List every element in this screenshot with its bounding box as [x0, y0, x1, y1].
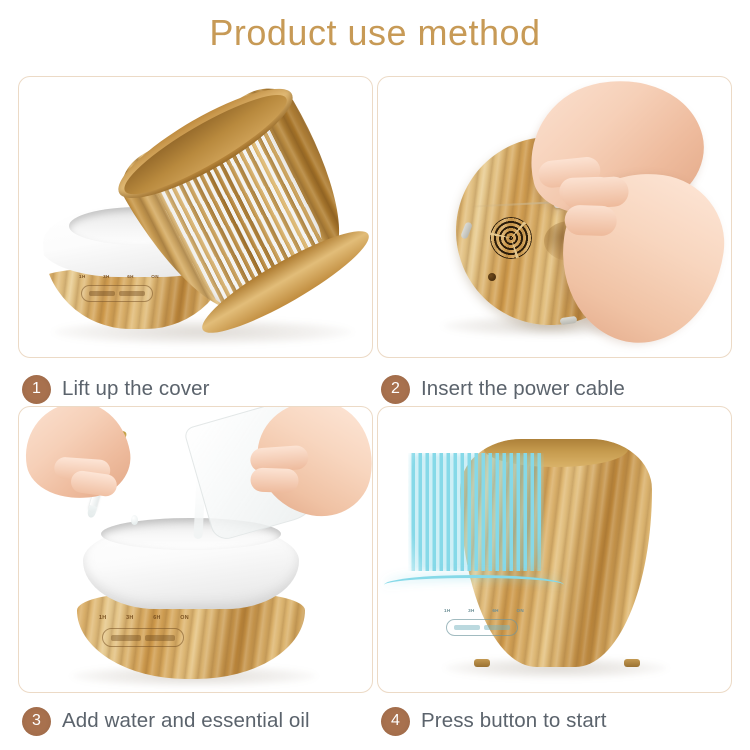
step-3-image: 1H 3H 6H ON: [18, 406, 373, 693]
timer-marks: 1H 3H 6H ON: [444, 608, 524, 613]
control-panel: [446, 619, 518, 636]
step-card-4: 1H 3H 6H ON 4 Press button to start: [377, 406, 732, 739]
button-mist: [454, 625, 480, 630]
step-label-2: Insert the power cable: [421, 377, 625, 401]
button-light: [145, 635, 175, 641]
oil-droplet: [131, 515, 138, 525]
timer-marks: 1H 3H 6H ON: [99, 615, 189, 621]
control-panel: [81, 285, 153, 302]
step-4-image: 1H 3H 6H ON: [377, 406, 732, 693]
steps-grid: 1H 3H 6H ON: [0, 76, 750, 750]
thumb: [70, 469, 119, 497]
step-4-caption: 4 Press button to start: [381, 703, 607, 739]
timer-mark: 1H: [79, 274, 86, 279]
step-badge-3: 3: [22, 707, 51, 736]
step-card-1: 1H 3H 6H ON: [18, 76, 373, 409]
product-infographic: Product use method 1H 3H 6H ON: [0, 0, 750, 750]
step-badge-1: 1: [22, 375, 51, 404]
screw: [488, 273, 496, 281]
timer-marks: 1H 3H 6H ON: [79, 274, 159, 279]
button-light: [119, 291, 145, 296]
step-label-1: Lift up the cover: [62, 377, 210, 401]
button-mist: [111, 635, 141, 641]
step-1-image: 1H 3H 6H ON: [18, 76, 373, 358]
step-card-3: 1H 3H 6H ON: [18, 406, 373, 739]
glowing-slots: [408, 453, 544, 571]
page-title: Product use method: [0, 12, 750, 54]
timer-mark: ON: [151, 274, 159, 279]
step-2-caption: 2 Insert the power cable: [381, 371, 625, 407]
finger: [250, 467, 299, 493]
timer-mark: 1H: [99, 615, 107, 621]
light-ring: [384, 575, 564, 595]
foot: [624, 659, 640, 667]
timer-mark: 3H: [103, 274, 110, 279]
fan-vent-icon: [490, 217, 532, 259]
step-badge-4: 4: [381, 707, 410, 736]
button-light: [484, 625, 510, 630]
step-label-4: Press button to start: [421, 709, 607, 733]
vent-spokes: [490, 217, 532, 259]
timer-mark: 3H: [468, 608, 474, 613]
step-card-2: 2 Insert the power cable: [377, 76, 732, 409]
timer-mark: ON: [516, 608, 524, 613]
step-1-caption: 1 Lift up the cover: [22, 371, 210, 407]
timer-mark: 6H: [153, 615, 161, 621]
thumb: [564, 205, 617, 237]
button-mist: [89, 291, 115, 296]
timer-mark: 6H: [127, 274, 134, 279]
step-badge-2: 2: [381, 375, 410, 404]
timer-mark: 1H: [444, 608, 450, 613]
foot: [474, 659, 490, 667]
timer-mark: 6H: [492, 608, 498, 613]
control-panel: [102, 628, 184, 647]
timer-mark: 3H: [126, 615, 134, 621]
step-label-3: Add water and essential oil: [62, 709, 310, 733]
step-3-caption: 3 Add water and essential oil: [22, 703, 310, 739]
dropper-tip: [86, 505, 97, 519]
step-2-image: [377, 76, 732, 358]
hand-holding-dropper: [18, 406, 137, 507]
timer-mark: ON: [180, 615, 189, 621]
diffuser-open: [77, 523, 305, 679]
